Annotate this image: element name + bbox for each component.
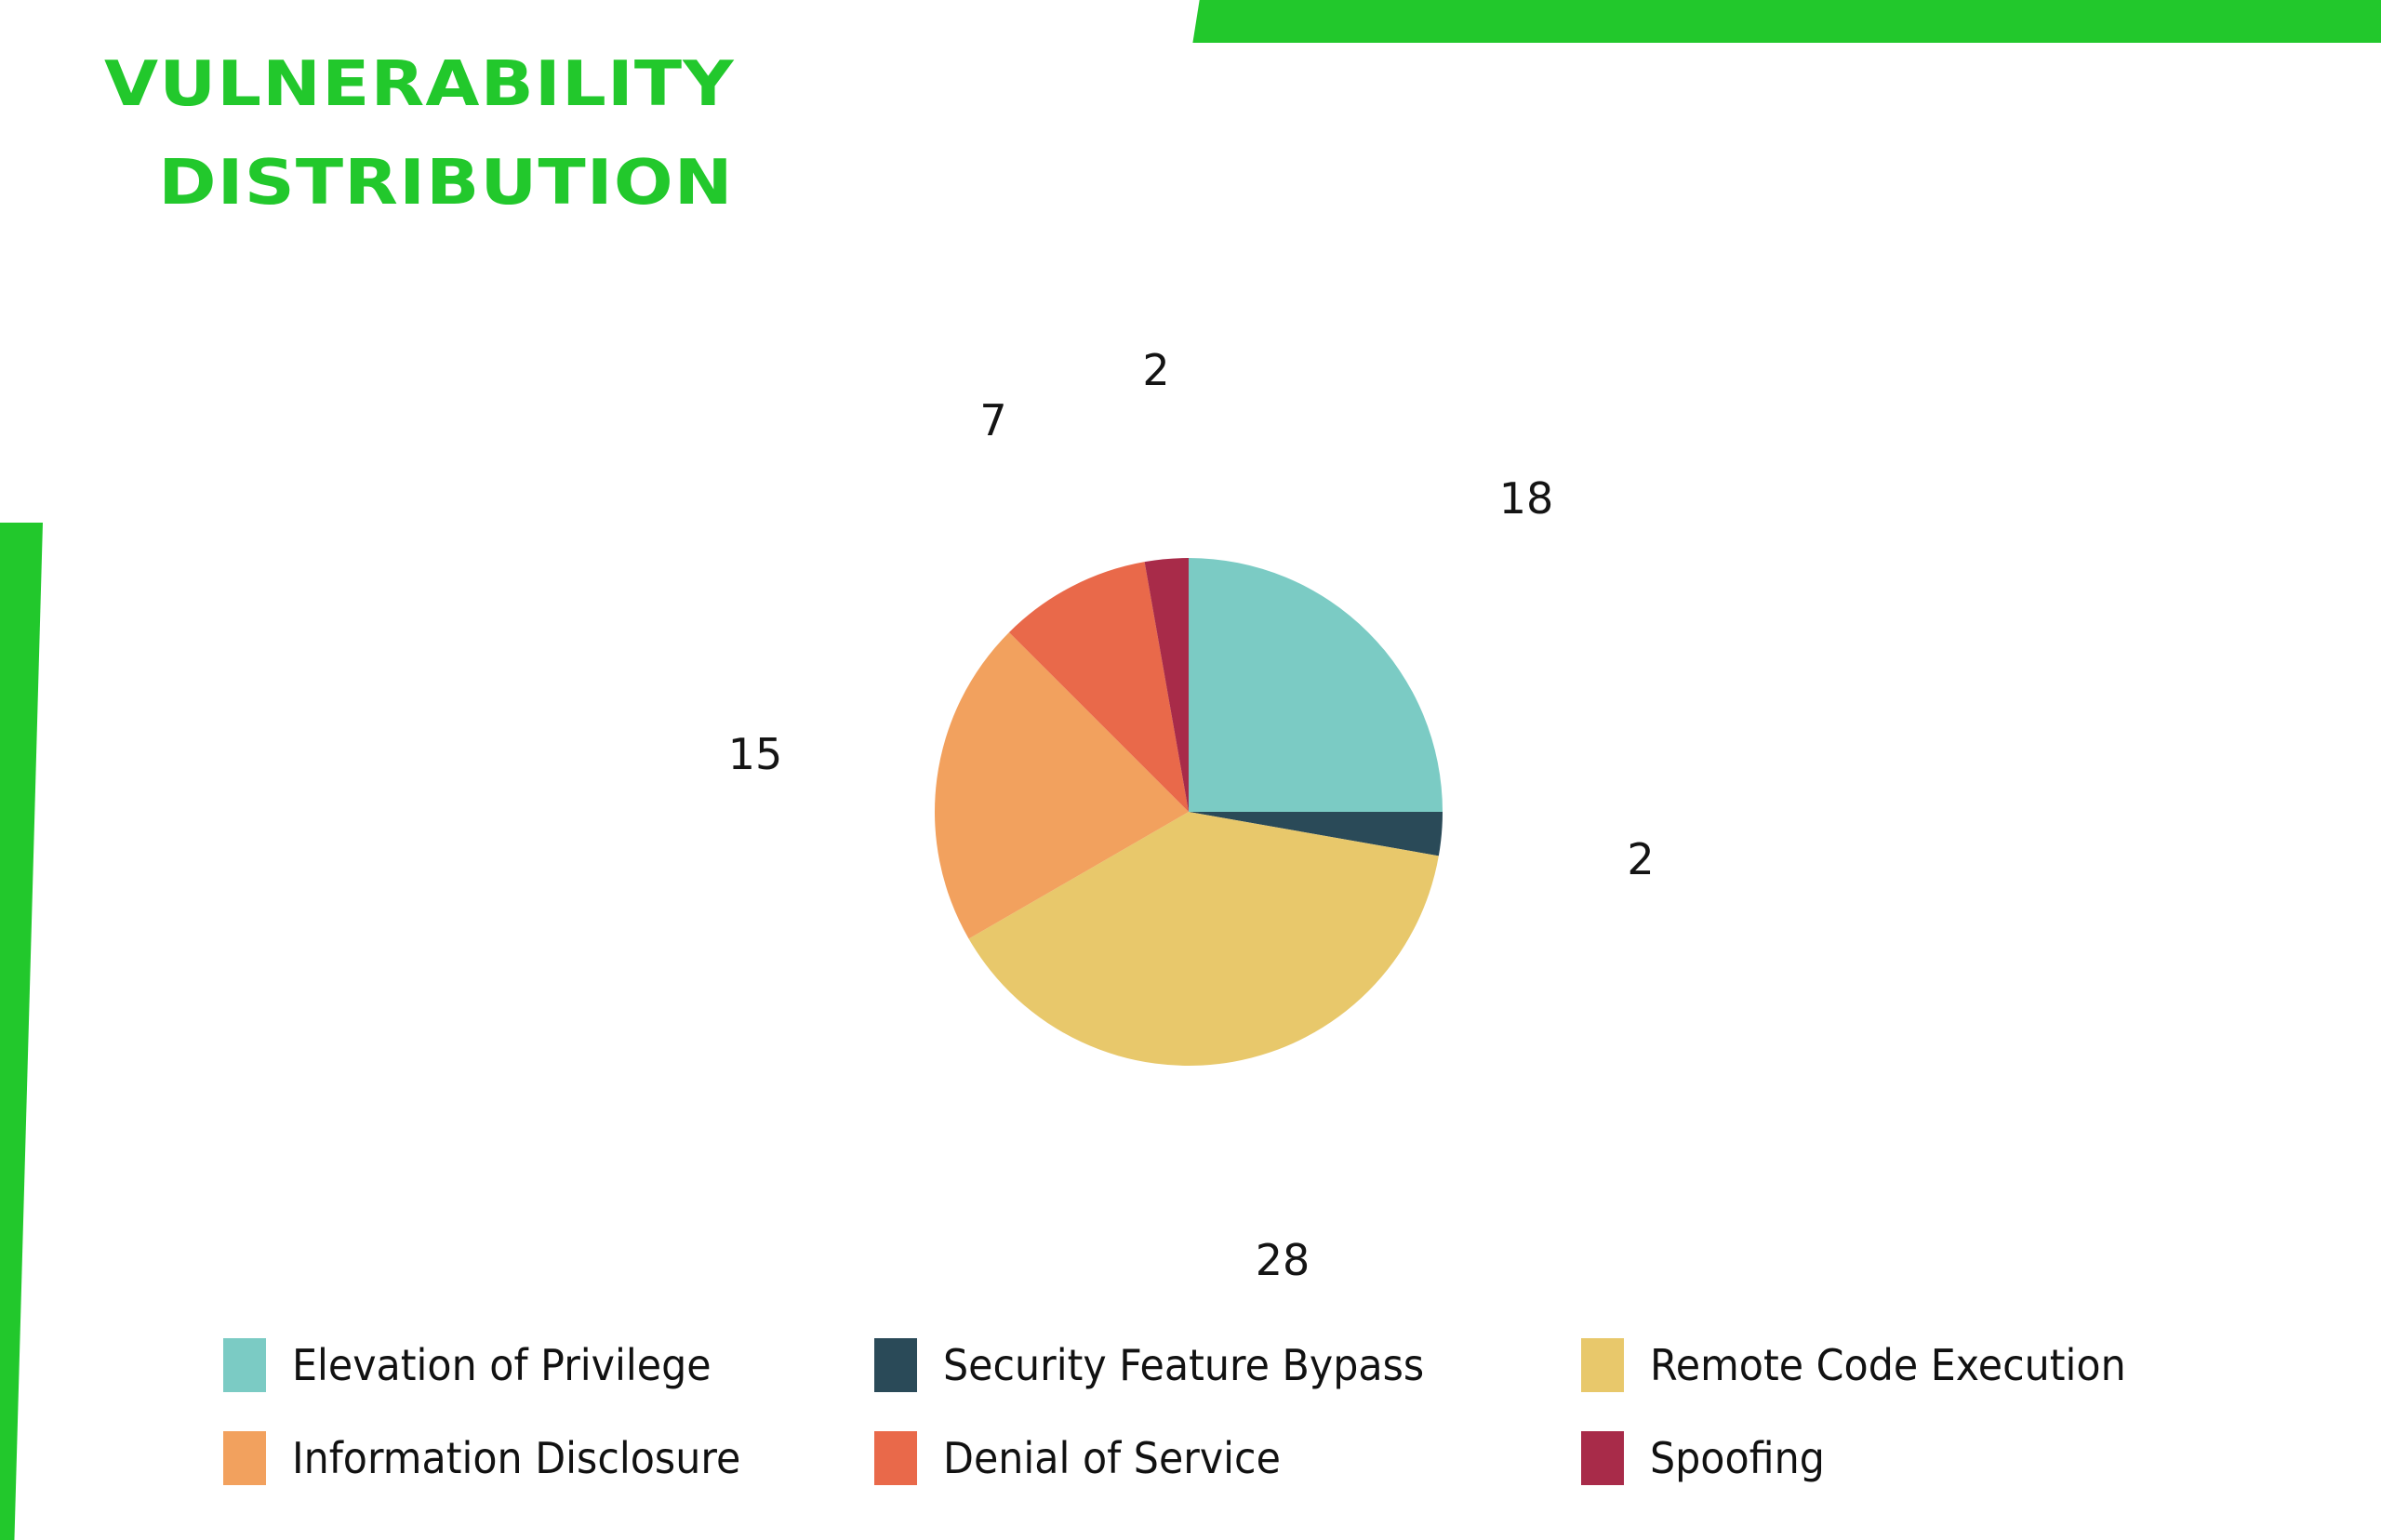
legend-item[interactable]: Remote Code Execution xyxy=(1581,1338,2195,1392)
legend-item[interactable]: Spoofing xyxy=(1581,1431,2195,1485)
legend-color-swatch-icon xyxy=(223,1338,266,1392)
legend-item[interactable]: Denial of Service xyxy=(874,1431,1581,1485)
legend-item-label: Spoofing xyxy=(1650,1437,1825,1480)
pie-slice-value-label: 7 xyxy=(979,399,1006,442)
legend-item[interactable]: Elevation of Privilege xyxy=(223,1338,874,1392)
legend-color-swatch-icon xyxy=(1581,1338,1624,1392)
chart-legend: Elevation of PrivilegeSecurity Feature B… xyxy=(223,1319,2195,1505)
pie-slice-value-label: 28 xyxy=(1256,1239,1310,1281)
legend-item-label: Remote Code Execution xyxy=(1650,1344,2126,1387)
legend-color-swatch-icon xyxy=(874,1431,917,1485)
legend-color-swatch-icon xyxy=(223,1431,266,1485)
legend-color-swatch-icon xyxy=(1581,1431,1624,1485)
pie-slice-value-label: 18 xyxy=(1499,477,1554,520)
legend-item[interactable]: Security Feature Bypass xyxy=(874,1338,1581,1392)
pie-chart-svg xyxy=(933,556,1444,1068)
pie-slice[interactable] xyxy=(1189,558,1443,812)
legend-item[interactable]: Information Disclosure xyxy=(223,1431,874,1485)
pie-slice-value-label: 2 xyxy=(1142,349,1169,392)
legend-item-label: Elevation of Privilege xyxy=(292,1344,712,1387)
chart-page: Vulnerability Distribution 182281572 Ele… xyxy=(0,0,2381,1540)
pie-chart: 182281572 xyxy=(0,0,2381,1293)
pie-slice-value-label: 2 xyxy=(1627,838,1654,881)
legend-color-swatch-icon xyxy=(874,1338,917,1392)
legend-item-label: Security Feature Bypass xyxy=(943,1344,1424,1387)
legend-item-label: Denial of Service xyxy=(943,1437,1281,1480)
legend-item-label: Information Disclosure xyxy=(292,1437,740,1480)
pie-slice-value-label: 15 xyxy=(728,733,783,776)
